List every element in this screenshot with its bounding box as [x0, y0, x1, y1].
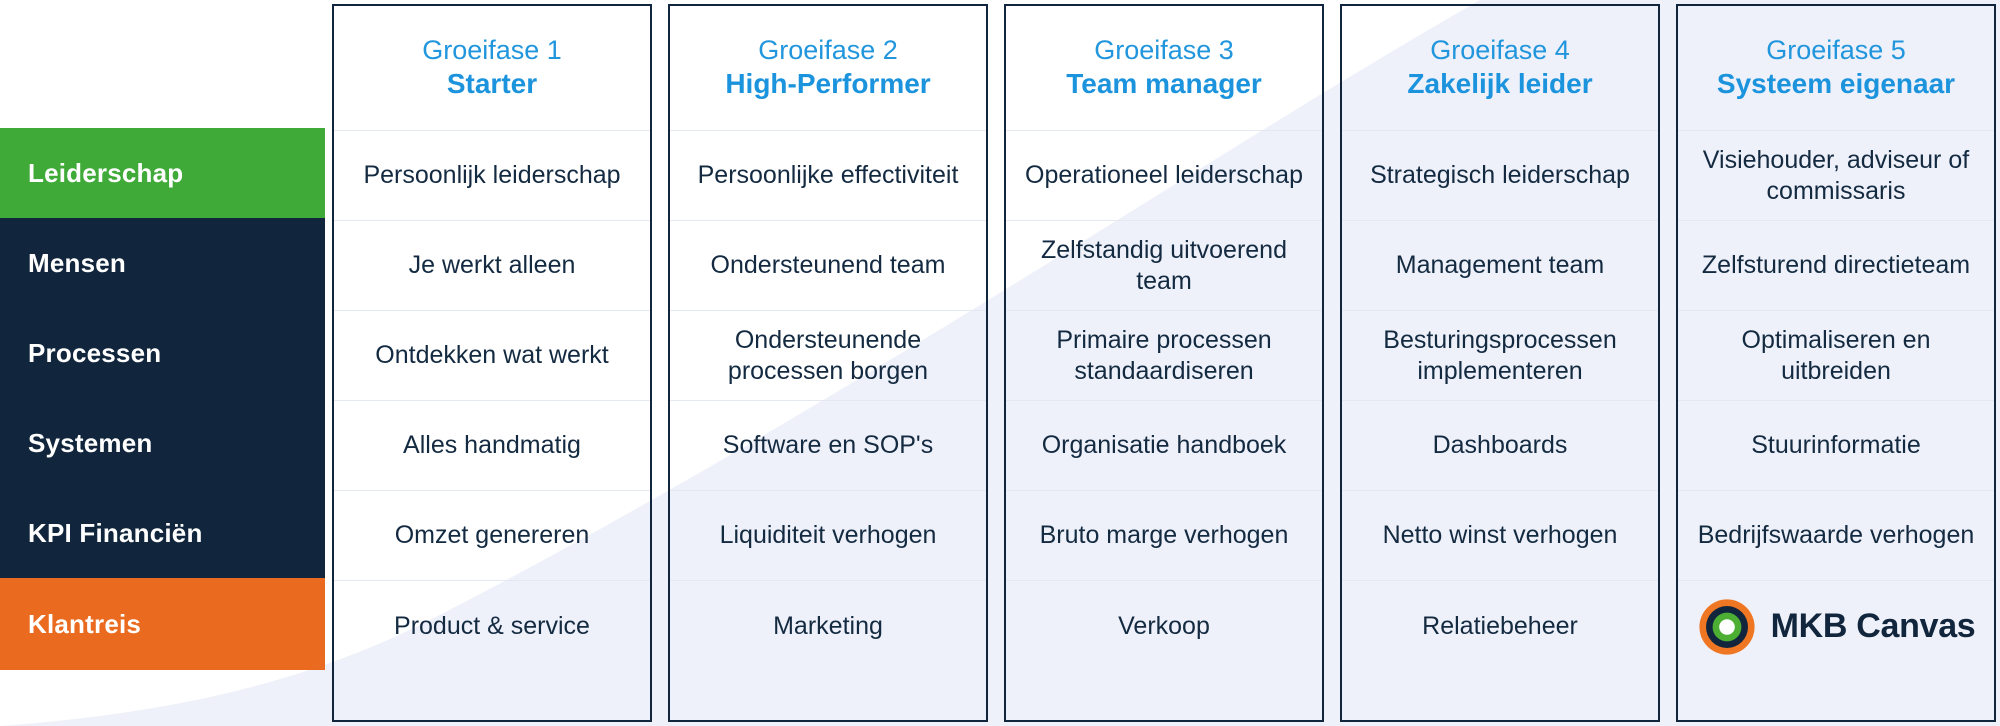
matrix-cell[interactable]: Liquiditeit verhogen	[670, 490, 986, 580]
matrix-cell[interactable]: Bedrijfswaarde verhogen	[1678, 490, 1994, 580]
mkb-canvas-ring-icon	[1697, 597, 1757, 657]
matrix-cell[interactable]: Netto winst verhogen	[1342, 490, 1658, 580]
matrix-cell[interactable]: Operationeel leiderschap	[1006, 130, 1322, 220]
brand-logo-cell: MKB Canvas	[1678, 580, 1994, 672]
sidebar-item-label: Systemen	[28, 428, 152, 459]
phase-card-strip: Groeifase 1 Starter Persoonlijk leidersc…	[332, 4, 1996, 722]
role-label: Zakelijk leider	[1407, 68, 1592, 100]
matrix-cell[interactable]: Organisatie handboek	[1006, 400, 1322, 490]
matrix-cell[interactable]: Persoonlijke effectiviteit	[670, 130, 986, 220]
matrix-cell[interactable]: Zelfstandig uitvoerend team	[1006, 220, 1322, 310]
phase-card-2[interactable]: Groeifase 2 High-Performer Persoonlijke …	[668, 4, 988, 722]
phase-card-header: Groeifase 2 High-Performer	[670, 6, 986, 130]
phase-label: Groeifase 2	[758, 35, 898, 66]
matrix-cell[interactable]: Product & service	[334, 580, 650, 672]
category-sidebar: Leiderschap Mensen Processen Systemen KP…	[0, 128, 325, 726]
matrix-cell[interactable]: Ondersteunend team	[670, 220, 986, 310]
matrix-cell[interactable]: Bruto marge verhogen	[1006, 490, 1322, 580]
matrix-cell[interactable]: Visiehouder, adviseur of commissaris	[1678, 130, 1994, 220]
matrix-cell[interactable]: Primaire processen standaardiseren	[1006, 310, 1322, 400]
phase-card-header: Groeifase 4 Zakelijk leider	[1342, 6, 1658, 130]
sidebar-item-mensen[interactable]: Mensen	[0, 218, 325, 308]
sidebar-item-kpi-financien[interactable]: KPI Financiën	[0, 488, 325, 578]
phase-card-header: Groeifase 1 Starter	[334, 6, 650, 130]
phase-card-header: Groeifase 3 Team manager	[1006, 6, 1322, 130]
role-label: High-Performer	[725, 68, 930, 100]
matrix-cell[interactable]: Dashboards	[1342, 400, 1658, 490]
phase-label: Groeifase 1	[422, 35, 562, 66]
matrix-cell[interactable]: Persoonlijk leiderschap	[334, 130, 650, 220]
matrix-cell[interactable]: Software en SOP's	[670, 400, 986, 490]
phase-card-1[interactable]: Groeifase 1 Starter Persoonlijk leidersc…	[332, 4, 652, 722]
matrix-cell[interactable]: Alles handmatig	[334, 400, 650, 490]
sidebar-item-label: Mensen	[28, 248, 126, 279]
role-label: Starter	[447, 68, 537, 100]
matrix-cell[interactable]: Je werkt alleen	[334, 220, 650, 310]
sidebar-item-label: Processen	[28, 338, 161, 369]
matrix-cell[interactable]: Verkoop	[1006, 580, 1322, 672]
sidebar-item-processen[interactable]: Processen	[0, 308, 325, 398]
phase-card-5[interactable]: Groeifase 5 Systeem eigenaar Visiehouder…	[1676, 4, 1996, 722]
role-label: Systeem eigenaar	[1717, 68, 1955, 100]
sidebar-item-systemen[interactable]: Systemen	[0, 398, 325, 488]
phase-card-header: Groeifase 5 Systeem eigenaar	[1678, 6, 1994, 130]
matrix-cell[interactable]: Ondersteunende processen borgen	[670, 310, 986, 400]
matrix-cell[interactable]: Omzet genereren	[334, 490, 650, 580]
matrix-cell[interactable]: Relatiebeheer	[1342, 580, 1658, 672]
phase-card-4[interactable]: Groeifase 4 Zakelijk leider Strategisch …	[1340, 4, 1660, 722]
sidebar-item-label: Klantreis	[28, 609, 141, 640]
sidebar-item-leiderschap[interactable]: Leiderschap	[0, 128, 325, 218]
phase-label: Groeifase 5	[1766, 35, 1906, 66]
matrix-cell[interactable]: Strategisch leiderschap	[1342, 130, 1658, 220]
phase-label: Groeifase 3	[1094, 35, 1234, 66]
matrix-cell[interactable]: Management team	[1342, 220, 1658, 310]
matrix-cell[interactable]: Besturingsprocessen implementeren	[1342, 310, 1658, 400]
matrix-cell[interactable]: Ontdekken wat werkt	[334, 310, 650, 400]
sidebar-item-label: Leiderschap	[28, 158, 183, 189]
sidebar-item-label: KPI Financiën	[28, 518, 203, 549]
matrix-cell[interactable]: Stuurinformatie	[1678, 400, 1994, 490]
phase-card-3[interactable]: Groeifase 3 Team manager Operationeel le…	[1004, 4, 1324, 722]
logo-wordmark: MKB Canvas	[1771, 606, 1976, 647]
growth-phase-matrix: Leiderschap Mensen Processen Systemen KP…	[0, 0, 2000, 726]
matrix-cell[interactable]: Marketing	[670, 580, 986, 672]
role-label: Team manager	[1066, 68, 1262, 100]
matrix-cell[interactable]: Optimaliseren en uitbreiden	[1678, 310, 1994, 400]
phase-label: Groeifase 4	[1430, 35, 1570, 66]
sidebar-item-klantreis[interactable]: Klantreis	[0, 578, 325, 670]
matrix-cell[interactable]: Zelfsturend directieteam	[1678, 220, 1994, 310]
